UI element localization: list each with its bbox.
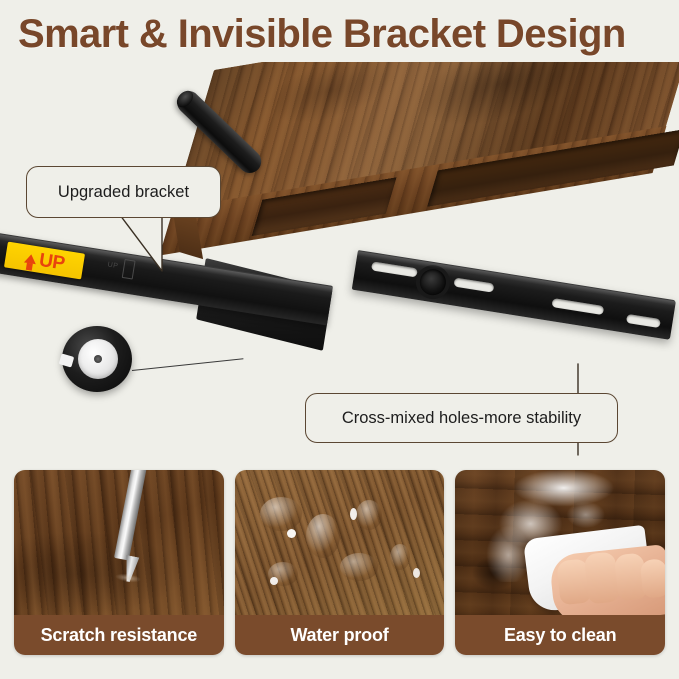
- grommet-center-hole: [94, 355, 102, 363]
- feature-image-water-proof: [235, 470, 445, 618]
- grommet-leader-line: [132, 358, 243, 371]
- floating-wood-shelf: [214, 62, 679, 297]
- wood-texture: [235, 470, 445, 618]
- feature-image-easy-to-clean: [455, 470, 665, 618]
- right-bracket-bar: [352, 250, 676, 340]
- grommet-white-cap: [78, 339, 118, 379]
- right-bracket: [345, 250, 676, 379]
- up-sticker-label: UP: [38, 250, 66, 273]
- feature-image-scratch-resistance: [14, 470, 224, 618]
- up-arrow-icon: [24, 253, 37, 264]
- product-feature-image: Smart & Invisible Bracket Design: [0, 0, 679, 679]
- callout-cross-mixed-holes: Cross-mixed holes-more stability: [305, 393, 618, 443]
- callout-upgraded-bracket: Upgraded bracket: [26, 166, 221, 218]
- feature-label-water-proof: Water proof: [235, 615, 445, 655]
- finger: [640, 558, 665, 598]
- callout-tail-upgraded: [118, 213, 188, 281]
- feature-card-scratch-resistance: Scratch resistance: [14, 470, 224, 655]
- bracket-slot: [551, 298, 604, 315]
- bracket-round-hole: [418, 267, 448, 297]
- embossed-up-label: UP: [107, 261, 119, 270]
- feature-label-easy-to-clean: Easy to clean: [455, 615, 665, 655]
- rubber-grommet: [62, 326, 132, 392]
- grommet-tab: [59, 353, 75, 367]
- feature-card-water-proof: Water proof: [235, 470, 445, 655]
- feature-card-easy-to-clean: Easy to clean: [455, 470, 665, 655]
- page-title: Smart & Invisible Bracket Design: [18, 12, 668, 57]
- feature-cards: Scratch resistance Water proof: [0, 470, 679, 655]
- bracket-slot: [626, 314, 661, 328]
- feature-label-scratch-resistance: Scratch resistance: [14, 615, 224, 655]
- finger: [584, 551, 620, 604]
- up-orientation-sticker: UP: [4, 242, 85, 280]
- bracket-slot: [371, 261, 418, 277]
- bracket-slot: [453, 277, 494, 292]
